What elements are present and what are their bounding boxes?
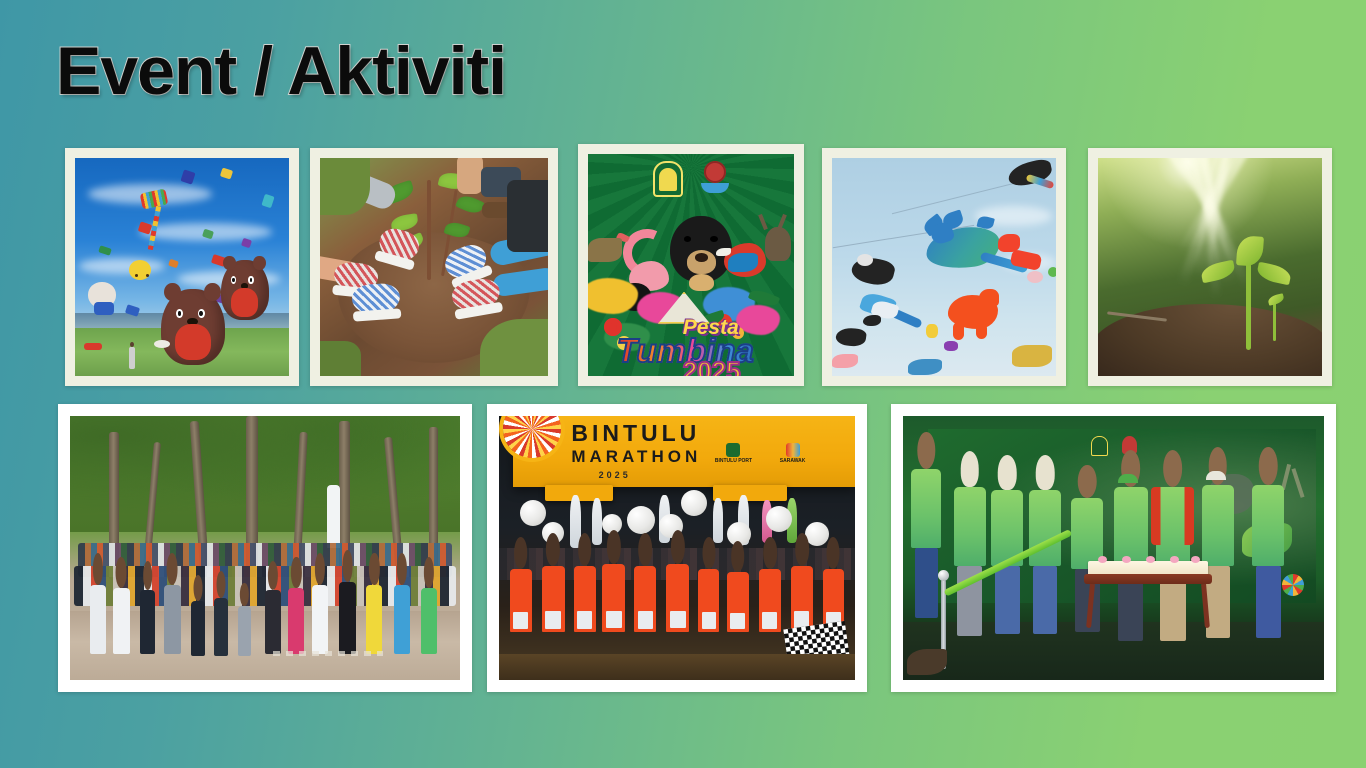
- gallery-item-pesta-tumbina-poster[interactable]: Pesta Tumbina 2025: [578, 144, 804, 386]
- photo-animal-kites: [832, 158, 1056, 376]
- marathon-subtitle: MARATHON: [571, 447, 701, 467]
- ceremony-table: [1084, 574, 1212, 584]
- marathon-title: BINTULU: [571, 422, 700, 445]
- photo-bintulu-marathon: BINTULU MARATHON 2025 BINTULU PORT SARAW…: [499, 416, 855, 680]
- gallery-item-tree-planting[interactable]: [310, 148, 558, 386]
- sponsor-sarawak: SARAWAK: [780, 443, 806, 464]
- gallery-item-bintulu-marathon[interactable]: BINTULU MARATHON 2025 BINTULU PORT SARAW…: [487, 404, 867, 692]
- marathon-year: 2025: [599, 470, 631, 480]
- bintulu-council-logo-icon: [653, 161, 683, 197]
- photo-tree-planting: [320, 158, 548, 376]
- gallery-item-animal-kites[interactable]: [822, 148, 1066, 386]
- sponsor-bintulu-port: BINTULU PORT: [715, 443, 752, 464]
- poster-year: 2025: [683, 356, 741, 376]
- sarawak-agency-logo-icon: [701, 161, 729, 193]
- photo-kite-festival: [75, 158, 289, 376]
- slide-canvas: Event / Aktiviti: [0, 0, 1366, 768]
- marathon-banner: BINTULU MARATHON 2025 BINTULU PORT SARAW…: [513, 416, 855, 487]
- gallery-item-seedling[interactable]: [1088, 148, 1332, 386]
- photo-park-crowd: [70, 416, 460, 680]
- gallery-item-park-crowd[interactable]: [58, 404, 472, 692]
- photo-cake-cutting-ceremony: [903, 416, 1324, 680]
- photo-pesta-tumbina-poster: Pesta Tumbina 2025: [588, 154, 794, 376]
- gallery-item-cake-cutting-ceremony[interactable]: [891, 404, 1336, 692]
- backdrop-council-logo-icon: [1091, 436, 1108, 456]
- gallery-item-kite-festival[interactable]: [65, 148, 299, 386]
- photo-seedling: [1098, 158, 1322, 376]
- page-title: Event / Aktiviti: [56, 36, 506, 107]
- poster-logos: [588, 161, 794, 197]
